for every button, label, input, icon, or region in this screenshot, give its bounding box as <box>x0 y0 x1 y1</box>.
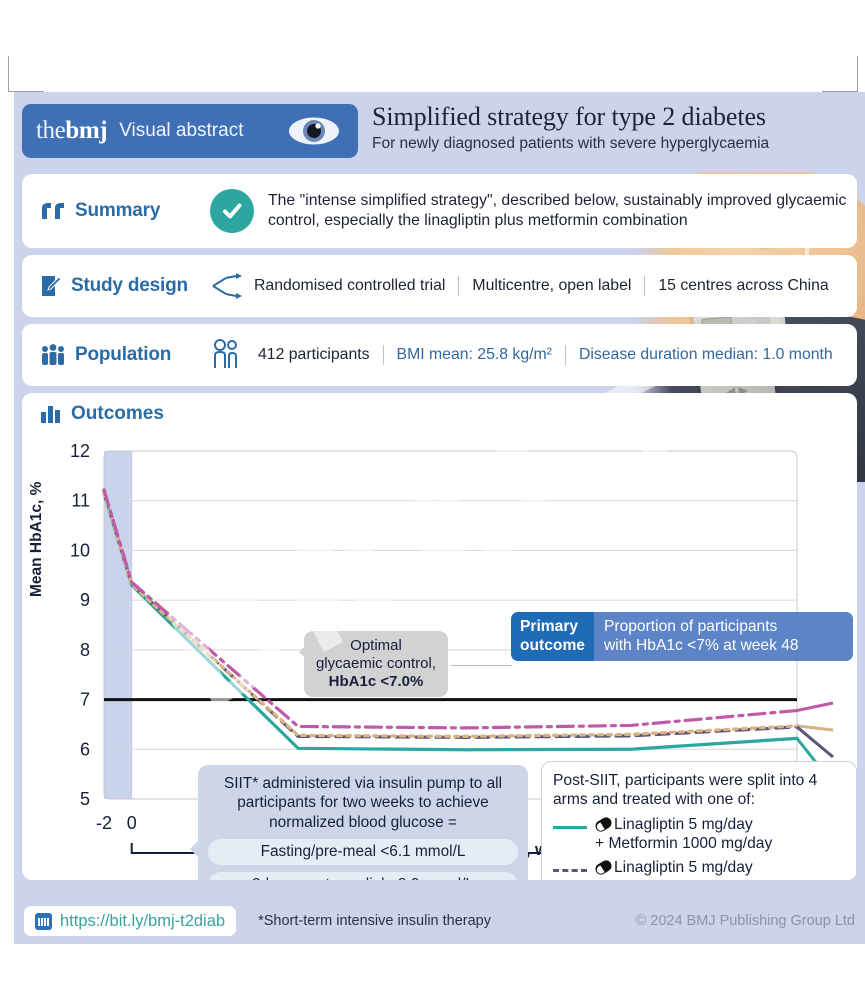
optimal-control-callout: Optimal glycaemic control, HbA1c <7.0% <box>304 631 448 697</box>
optimal-line-2: glycaemic control, <box>312 655 440 673</box>
legend-label-combo-2: + Metformin 1000 mg/day <box>595 835 772 852</box>
fact-population-2: Disease duration median: 1.0 month <box>565 345 846 364</box>
screenshot-root: ◀ ▶ thebmj Visual abstract Simplified st… <box>0 0 865 982</box>
y-axis-label: Mean HbA1c, % <box>28 482 46 597</box>
population-row: Population 412 participants BMI mean: 25… <box>22 324 857 386</box>
legend-label-linagliptin: Linagliptin 5 mg/day <box>614 859 753 876</box>
qr-code-icon <box>35 913 52 930</box>
two-persons-icon <box>210 338 244 372</box>
legend-text-combo: Linagliptin 5 mg/day + Metformin 1000 mg… <box>595 816 772 853</box>
primary-outcome-text-1: Proportion of participants <box>604 618 843 637</box>
optimal-leader-line <box>450 665 512 666</box>
y-tick-label: 5 <box>80 789 90 809</box>
primary-outcome-label: Primary outcome <box>511 612 594 661</box>
arms-callout-lead: Post-SIIT, participants were split into … <box>553 771 845 810</box>
legend-key-combo <box>553 818 587 836</box>
summary-label: Summary <box>75 200 160 222</box>
outcomes-label-group: Outcomes <box>40 403 164 425</box>
population-label: Population <box>75 344 171 366</box>
bar-chart-icon <box>40 404 62 424</box>
visual-abstract-poster: ◀ ▶ thebmj Visual abstract Simplified st… <box>14 92 865 944</box>
logo-the: the <box>36 117 65 144</box>
fact-design-0: Randomised controlled trial <box>248 276 458 295</box>
eye-icon <box>288 116 340 146</box>
optimal-line-1: Optimal <box>312 637 440 655</box>
treatment-arms-legend: Post-SIIT, participants were split into … <box>541 761 857 880</box>
study-url[interactable]: https://bit.ly/bmj-t2diab <box>60 912 225 931</box>
study-design-label-group: Study design <box>22 274 210 298</box>
poster-header: thebmj Visual abstract Simplified strate… <box>14 92 865 174</box>
page-title: Simplified strategy for type 2 diabetes <box>372 102 857 133</box>
check-mark-icon <box>220 199 244 223</box>
endpoint-connector-3 <box>797 703 833 711</box>
randomisation-split-icon <box>210 271 244 301</box>
summary-row: Summary The "intense simplified strategy… <box>22 174 857 248</box>
series-line-3 <box>104 490 797 728</box>
siit-callout-lead: SIIT* administered via insulin pump to a… <box>208 774 518 832</box>
bmj-logo: thebmj <box>36 117 107 145</box>
legend-key-linagliptin <box>553 861 587 879</box>
y-tick-label: 6 <box>80 739 90 759</box>
title-block: Simplified strategy for type 2 diabetes … <box>372 102 857 153</box>
page-subtitle: For newly diagnosed patients with severe… <box>372 135 857 153</box>
y-tick-label: 10 <box>70 540 90 560</box>
bmj-brand-bar: thebmj Visual abstract <box>22 104 358 158</box>
x-tick-label: 0 <box>127 813 137 833</box>
siit-target-fasting: Fasting/pre-meal <6.1 mmol/L <box>208 839 518 865</box>
outcomes-panel: Outcomes Mean HbA1c, % Sequential treatm… <box>22 393 857 880</box>
fact-design-2: 15 centres across China <box>644 276 841 295</box>
visual-abstract-label: Visual abstract <box>119 120 243 142</box>
pill-icon <box>593 859 613 877</box>
outcomes-label: Outcomes <box>71 403 164 425</box>
y-tick-label: 12 <box>70 441 90 461</box>
population-facts: 412 participants BMI mean: 25.8 kg/m² Di… <box>252 345 846 364</box>
fact-population-0: 412 participants <box>252 345 383 364</box>
pencil-document-icon <box>40 274 62 298</box>
primary-outcome-label-2: outcome <box>520 637 585 656</box>
study-design-label: Study design <box>71 275 188 297</box>
study-design-facts: Randomised controlled trial Multicentre,… <box>248 276 842 295</box>
y-tick-label: 7 <box>80 690 90 710</box>
copyright: © 2024 BMJ Publishing Group Ltd <box>636 913 855 929</box>
check-circle-icon <box>210 189 254 233</box>
primary-outcome-text: Proportion of participants with HbA1c <7… <box>594 612 853 661</box>
people-group-icon <box>40 343 66 367</box>
primary-outcome-text-2: with HbA1c <7% at week 48 <box>604 637 843 656</box>
y-tick-label: 9 <box>80 590 90 610</box>
study-design-row: Study design Randomised controlled trial… <box>22 255 857 317</box>
poster-footer: https://bit.ly/bmj-t2diab *Short-term in… <box>14 898 865 944</box>
summary-label-group: Summary <box>22 200 210 222</box>
fact-population-1: BMI mean: 25.8 kg/m² <box>383 345 565 364</box>
crop-mark-top-right-vertical <box>857 56 858 92</box>
primary-outcome-badge: Primary outcome Proportion of participan… <box>511 612 853 661</box>
pill-icon <box>593 815 613 833</box>
legend-text-linagliptin: Linagliptin 5 mg/day <box>595 859 753 878</box>
siit-callout: SIIT* administered via insulin pump to a… <box>198 765 528 880</box>
legend-item-linagliptin[interactable]: Linagliptin 5 mg/day <box>553 859 845 879</box>
population-label-group: Population <box>22 343 210 367</box>
siit-target-postprandial: 2-hour postprandial <8.0 mmol/L <box>208 872 518 880</box>
summary-text: The "intense simplified strategy", descr… <box>268 191 857 231</box>
optimal-line-3: HbA1c <7.0% <box>329 673 424 690</box>
legend-label-combo-1: Linagliptin 5 mg/day <box>614 816 753 833</box>
legend-item-combo[interactable]: Linagliptin 5 mg/day + Metformin 1000 mg… <box>553 816 845 853</box>
crop-mark-top-left-vertical <box>8 56 9 92</box>
fact-design-1: Multicentre, open label <box>458 276 644 295</box>
quote-icon <box>40 201 66 221</box>
y-tick-label: 11 <box>71 491 90 511</box>
endpoint-connector-1 <box>797 727 833 757</box>
logo-bmj: bmj <box>65 117 107 144</box>
footnote: *Short-term intensive insulin therapy <box>258 913 491 929</box>
y-tick-label: 8 <box>80 640 90 660</box>
endpoint-connector-2 <box>797 726 833 730</box>
url-chip[interactable]: https://bit.ly/bmj-t2diab <box>24 906 236 936</box>
primary-outcome-label-1: Primary <box>520 618 585 637</box>
x-tick-label: -2 <box>96 813 112 833</box>
